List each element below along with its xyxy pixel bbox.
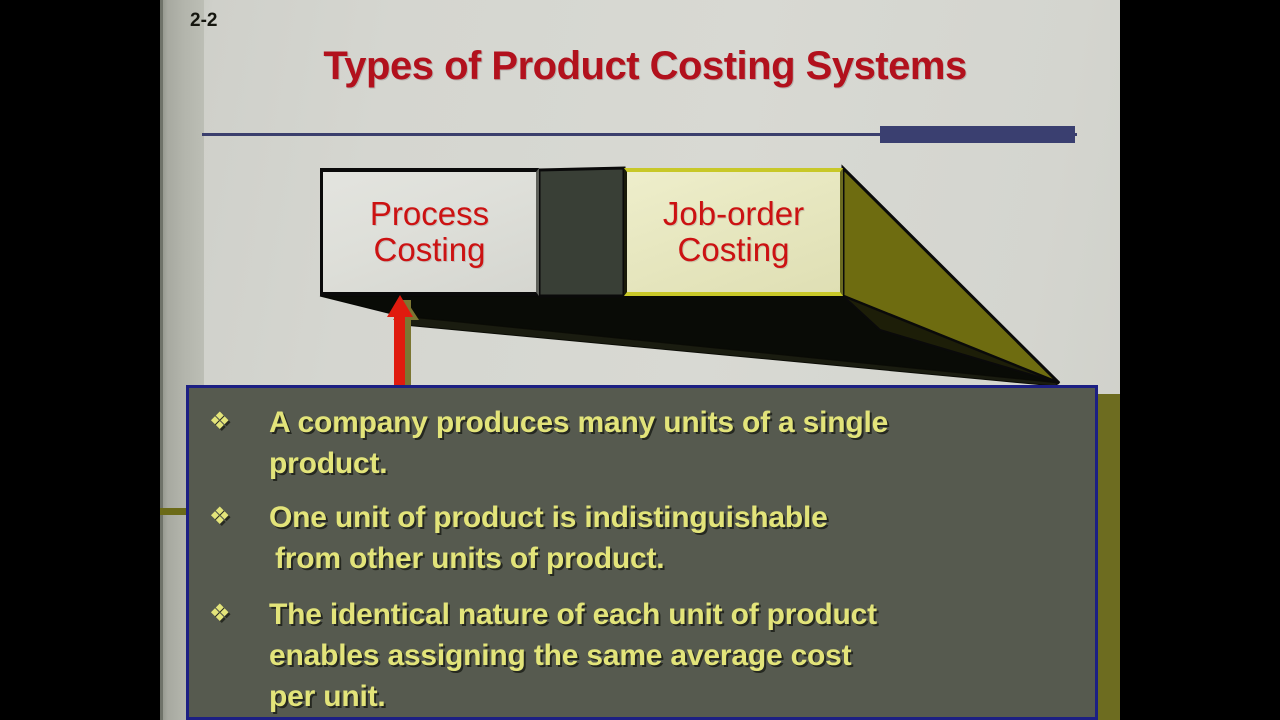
- left-olive-tick: [160, 508, 187, 515]
- bullet-3-line-3: per unit.: [269, 676, 1085, 717]
- slide-canvas: 2-2 Types of Product Costing Systems Pro…: [160, 0, 1120, 720]
- diamond-bullet-icon: ❖: [201, 594, 269, 634]
- diamond-bullet-icon: ❖: [201, 402, 269, 442]
- bullet-2-line-1: One unit of product is indistinguishable: [269, 497, 1085, 538]
- bullet-1-line-2: product.: [269, 443, 1085, 484]
- list-item: ❖ One unit of product is indistinguishab…: [201, 497, 1085, 579]
- list-item: ❖ A company produces many units of a sin…: [201, 402, 1085, 484]
- process-box-side-face: [539, 168, 624, 296]
- list-item: ❖ The identical nature of each unit of p…: [201, 594, 1085, 717]
- box-process-costing-line2: Costing: [374, 232, 486, 268]
- bullet-text-2: One unit of product is indistinguishable…: [269, 497, 1085, 579]
- bullet-3-line-2: enables assigning the same average cost: [269, 635, 1085, 676]
- bullet-text-3: The identical nature of each unit of pro…: [269, 594, 1085, 717]
- costing-systems-diagram: Process Costing Job-order Costing: [160, 0, 1120, 400]
- diamond-bullet-icon: ❖: [201, 497, 269, 537]
- bullet-3-line-1: The identical nature of each unit of pro…: [269, 594, 1085, 635]
- bullet-list: ❖ A company produces many units of a sin…: [189, 388, 1095, 717]
- box-process-costing-line1: Process: [370, 196, 489, 232]
- box-job-order-costing[interactable]: Job-order Costing: [624, 168, 843, 296]
- box-job-order-costing-line1: Job-order: [663, 196, 804, 232]
- bullet-panel: ❖ A company produces many units of a sin…: [186, 385, 1098, 720]
- bullet-2-line-2: from other units of product.: [269, 538, 1085, 579]
- bullet-1-line-1: A company produces many units of a singl…: [269, 402, 1085, 443]
- bullet-text-1: A company produces many units of a singl…: [269, 402, 1085, 484]
- box-job-order-costing-line2: Costing: [678, 232, 790, 268]
- up-arrow-head-icon: [387, 295, 413, 317]
- screen: 2-2 Types of Product Costing Systems Pro…: [0, 0, 1280, 720]
- box-process-costing[interactable]: Process Costing: [320, 168, 539, 296]
- up-arrow-shaft-icon: [394, 305, 405, 387]
